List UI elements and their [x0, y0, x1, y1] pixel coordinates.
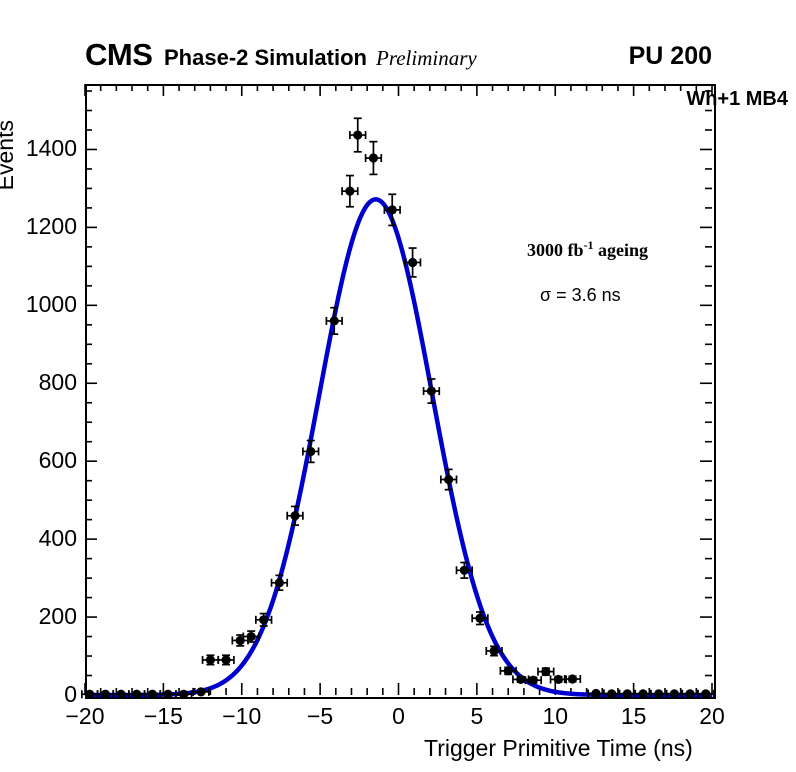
ageing-exponent: -1: [584, 238, 594, 252]
sigma-annotation: σ = 3.6 ns: [540, 285, 621, 306]
x-tick-label: −10: [202, 703, 282, 730]
ageing-annotation: 3000 fb-1 ageing: [527, 238, 648, 261]
region-label: Wh+1 MB4: [686, 88, 788, 111]
pileup-label: PU 200: [629, 40, 712, 72]
cms-logo-text: CMS: [85, 38, 152, 72]
x-tick-label: −15: [123, 703, 203, 730]
preliminary-label: Preliminary: [376, 44, 477, 72]
y-tick-label: 1200: [0, 213, 77, 240]
y-tick-label: 0: [0, 681, 77, 708]
y-tick-label: 400: [0, 525, 77, 552]
y-axis-title: Events: [0, 120, 19, 190]
y-tick-label: 800: [0, 369, 77, 396]
y-tick-label: 200: [0, 603, 77, 630]
ageing-suffix: ageing: [594, 240, 649, 260]
x-tick-label: 15: [594, 703, 674, 730]
plot-header: CMS Phase-2 Simulation Preliminary PU 20…: [85, 38, 712, 74]
x-axis-title: Trigger Primitive Time (ns): [424, 735, 693, 762]
phase-simulation-label: Phase-2 Simulation: [164, 43, 367, 72]
x-tick-label: 0: [359, 703, 439, 730]
y-tick-label: 1000: [0, 291, 77, 318]
x-tick-label: 10: [515, 703, 595, 730]
x-tick-label: −5: [280, 703, 360, 730]
x-tick-label: 5: [437, 703, 517, 730]
plot-frame: [85, 84, 716, 699]
plot-canvas: CMS Phase-2 Simulation Preliminary PU 20…: [0, 0, 796, 772]
y-tick-label: 600: [0, 447, 77, 474]
ageing-prefix: 3000 fb: [527, 240, 584, 260]
x-tick-label: 20: [672, 703, 752, 730]
